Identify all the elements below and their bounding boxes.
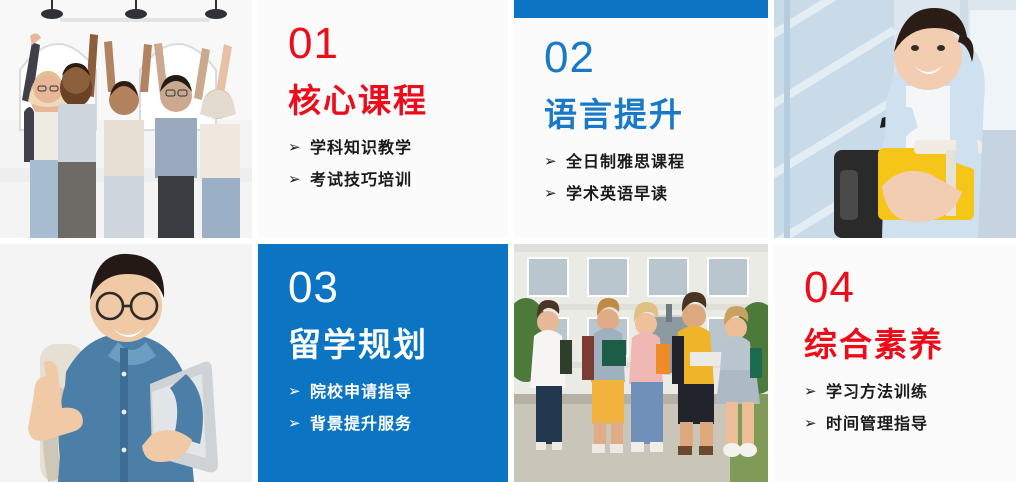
photo-student-thumbs-up (0, 244, 252, 482)
card-01-bullet-label: 考试技巧培训 (310, 172, 508, 188)
card-01-bullet-label: 学科知识教学 (310, 140, 508, 156)
arrow-bullet-icon: ➢ (544, 186, 566, 201)
card-03: 03留学规划➢院校申请指导➢背景提升服务 (258, 244, 508, 482)
card-04: 04综合素养➢学习方法训练➢时间管理指导 (774, 244, 1016, 482)
card-01-bullet-list: ➢学科知识教学➢考试技巧培训 (288, 140, 508, 204)
card-02-top-accent-bar (514, 0, 768, 18)
card-03-title: 留学规划 (288, 326, 508, 364)
card-04-bullet-label: 时间管理指导 (826, 416, 1016, 432)
feature-grid: 01核心课程➢学科知识教学➢考试技巧培训02语言提升➢全日制雅思课程➢学术英语早… (0, 0, 1016, 482)
arrow-bullet-icon: ➢ (288, 140, 310, 155)
card-03-bullet-label: 院校申请指导 (310, 384, 508, 400)
list-item: ➢学术英语早读 (544, 186, 768, 202)
arrow-bullet-icon: ➢ (288, 172, 310, 187)
card-03-number: 03 (288, 266, 508, 310)
card-04-bullet-list: ➢学习方法训练➢时间管理指导 (804, 384, 1016, 448)
card-01-number: 01 (288, 22, 508, 66)
card-02-bullet-list: ➢全日制雅思课程➢学术英语早读 (544, 154, 768, 218)
card-02-bullet-label: 学术英语早读 (566, 186, 768, 202)
card-01: 01核心课程➢学科知识教学➢考试技巧培训 (258, 0, 508, 238)
card-04-title: 综合素养 (804, 326, 1016, 364)
list-item: ➢时间管理指导 (804, 416, 1016, 432)
list-item: ➢全日制雅思课程 (544, 154, 768, 170)
list-item: ➢学习方法训练 (804, 384, 1016, 400)
arrow-bullet-icon: ➢ (804, 384, 826, 399)
card-02: 02语言提升➢全日制雅思课程➢学术英语早读 (514, 0, 768, 238)
list-item: ➢院校申请指导 (288, 384, 508, 400)
card-02-bullet-label: 全日制雅思课程 (566, 154, 768, 170)
card-03-bullet-list: ➢院校申请指导➢背景提升服务 (288, 384, 508, 448)
card-04-number: 04 (804, 266, 1016, 310)
card-03-bullet-label: 背景提升服务 (310, 416, 508, 432)
list-item: ➢学科知识教学 (288, 140, 508, 156)
card-02-title: 语言提升 (544, 96, 768, 134)
photo-cheering-students (0, 0, 252, 238)
list-item: ➢考试技巧培训 (288, 172, 508, 188)
photo-students-walking-campus (514, 244, 768, 482)
arrow-bullet-icon: ➢ (288, 384, 310, 399)
photo-student-with-notebook (774, 0, 1016, 238)
arrow-bullet-icon: ➢ (288, 416, 310, 431)
arrow-bullet-icon: ➢ (804, 416, 826, 431)
card-01-title: 核心课程 (288, 82, 508, 120)
list-item: ➢背景提升服务 (288, 416, 508, 432)
card-04-bullet-label: 学习方法训练 (826, 384, 1016, 400)
arrow-bullet-icon: ➢ (544, 154, 566, 169)
card-02-number: 02 (544, 36, 768, 80)
